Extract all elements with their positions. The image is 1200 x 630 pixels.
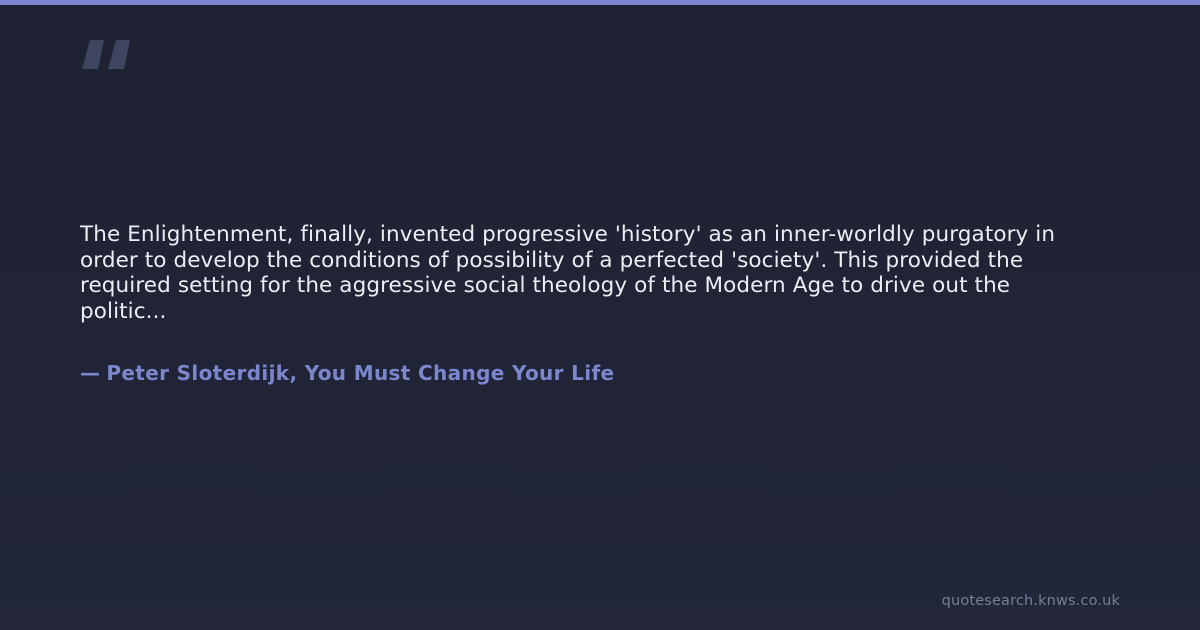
attribution-text: Peter Sloterdijk, You Must Change Your L…	[106, 361, 614, 385]
quote-text: The Enlightenment, finally, invented pro…	[80, 222, 1102, 324]
quote-content: The Enlightenment, finally, invented pro…	[80, 222, 1110, 386]
top-accent-bar	[0, 0, 1200, 5]
footer-site-url: quotesearch.knws.co.uk	[942, 592, 1120, 610]
quote-card: The Enlightenment, finally, invented pro…	[0, 0, 1200, 630]
quotation-mark-icon	[80, 22, 140, 84]
attribution-dash: —	[80, 361, 100, 385]
quote-attribution: —Peter Sloterdijk, You Must Change Your …	[80, 360, 1110, 386]
